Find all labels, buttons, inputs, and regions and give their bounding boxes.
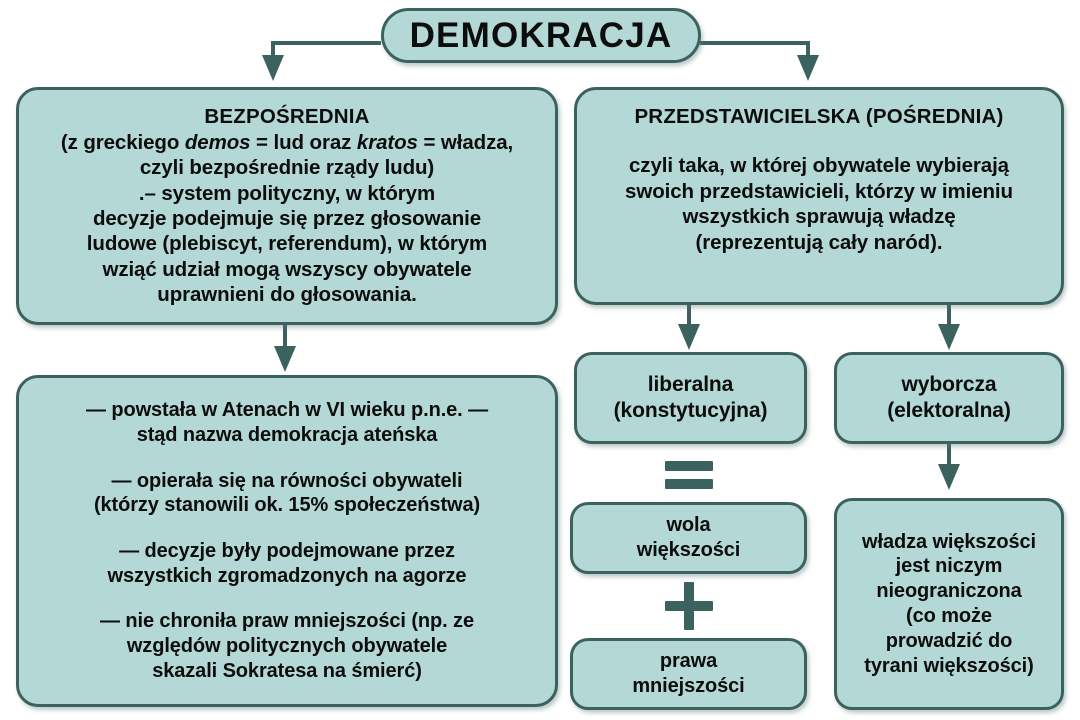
arrow-direct-to-details <box>274 346 296 372</box>
representative-spacer <box>587 129 1051 153</box>
electoral-line-1: wyborcza <box>837 372 1061 398</box>
direct-line-5: ludowe (plebiscyt, referendum), w którym <box>29 231 545 256</box>
detail-bullet-1-line-2: stąd nazwa demokracja ateńska <box>33 423 541 448</box>
direct-line-7: uprawnieni do głosowania. <box>29 282 545 307</box>
detail-bullet-4-line-2: względów politycznych obywatele <box>33 634 541 659</box>
detail-bullet-1-line-1: — powstała w Atenach w VI wieku p.n.e. — <box>33 398 541 423</box>
majority-power-line-1: władza większości <box>837 530 1061 555</box>
direct-line-1-kratos: kratos <box>357 131 418 154</box>
node-electoral[interactable]: wyborcza (elektoralna) <box>834 352 1064 444</box>
majority-power-line-4: (co może <box>837 604 1061 629</box>
arrow-title-to-direct <box>262 55 284 81</box>
connector-representative-to-liberal-vertical <box>687 304 691 326</box>
representative-line-4: (reprezentują cały naród). <box>587 230 1051 255</box>
representative-line-3: wszystkich sprawują władzę <box>587 204 1051 229</box>
node-direct-democracy-details[interactable]: — powstała w Atenach w VI wieku p.n.e. —… <box>16 375 558 707</box>
minority-rights-line-1: prawa <box>573 649 804 674</box>
connector-title-to-direct-horizontal <box>271 41 381 45</box>
majority-power-line-3: nieograniczona <box>837 579 1061 604</box>
minority-rights-line-2: mniejszości <box>573 674 804 699</box>
direct-line-1-part-e: = władza, <box>418 131 513 154</box>
diagram-title-text: DEMOKRACJA <box>384 14 698 57</box>
detail-bullet-2-line-2: (którzy stanowili ok. 15% społeczeństwa) <box>33 493 541 518</box>
node-direct-democracy[interactable]: BEZPOŚREDNIA (z greckiego demos = lud or… <box>16 87 558 325</box>
connector-electoral-to-majority-power-vertical <box>947 444 951 466</box>
liberal-line-1: liberalna <box>577 372 804 398</box>
connector-title-to-representative-horizontal <box>700 41 810 45</box>
direct-line-6: wziąć udział mogą wszyscy obywatele <box>29 257 545 282</box>
will-of-majority-line-2: większości <box>573 538 804 563</box>
connector-representative-to-electoral-vertical <box>947 304 951 326</box>
detail-bullet-3: — decyzje były podejmowane przez wszystk… <box>33 539 541 589</box>
representative-line-1: czyli taka, w której obywatele wybierają <box>587 153 1051 178</box>
detail-bullet-4-line-1: — nie chroniła praw mniejszości (np. ze <box>33 609 541 634</box>
liberal-line-2: (konstytucyjna) <box>577 398 804 424</box>
direct-line-1-part-a: (z greckiego <box>61 131 185 154</box>
node-will-of-majority[interactable]: wola większości <box>570 502 807 574</box>
direct-heading: BEZPOŚREDNIA <box>29 104 545 129</box>
connector-direct-to-details-vertical <box>283 324 287 348</box>
direct-line-1-demos: demos <box>185 131 251 154</box>
direct-line-1: (z greckiego demos = lud oraz kratos = w… <box>29 130 545 155</box>
majority-power-line-5: prowadzić do <box>837 629 1061 654</box>
direct-line-2: czyli bezpośrednie rządy ludu) <box>29 155 545 180</box>
majority-power-line-6: tyrani większości) <box>837 654 1061 679</box>
direct-line-4: decyzje podejmuje się przez głosowanie <box>29 206 545 231</box>
detail-bullet-3-line-1: — decyzje były podejmowane przez <box>33 539 541 564</box>
detail-bullet-1: — powstała w Atenach w VI wieku p.n.e. —… <box>33 398 541 448</box>
representative-line-2: swoich przedstawicieli, którzy w imieniu <box>587 179 1051 204</box>
majority-power-line-2: jest niczym <box>837 554 1061 579</box>
direct-line-3: .– system polityczny, w którym <box>29 181 545 206</box>
node-majority-power[interactable]: władza większości jest niczym nieogranic… <box>834 498 1064 710</box>
detail-bullet-3-line-2: wszystkich zgromadzonych na agorze <box>33 564 541 589</box>
representative-heading: PRZEDSTAWICIELSKA (POŚREDNIA) <box>587 104 1051 129</box>
diagram-title-node[interactable]: DEMOKRACJA <box>381 8 701 63</box>
detail-bullet-2-line-1: — opierała się na równości obywateli <box>33 469 541 494</box>
arrow-electoral-to-majority-power <box>938 464 960 490</box>
node-minority-rights[interactable]: prawa mniejszości <box>570 638 807 710</box>
direct-line-1-part-c: = lud oraz <box>250 131 356 154</box>
arrow-representative-to-liberal <box>678 324 700 350</box>
detail-bullet-2: — opierała się na równości obywateli (kt… <box>33 469 541 519</box>
detail-bullet-4-line-3: skazali Sokratesa na śmierć) <box>33 659 541 684</box>
node-representative-democracy[interactable]: PRZEDSTAWICIELSKA (POŚREDNIA) czyli taka… <box>574 87 1064 305</box>
arrow-representative-to-electoral <box>938 324 960 350</box>
node-liberal[interactable]: liberalna (konstytucyjna) <box>574 352 807 444</box>
electoral-line-2: (elektoralna) <box>837 398 1061 424</box>
diagram-canvas: DEMOKRACJA BEZPOŚREDNIA (z greckiego dem… <box>0 0 1080 720</box>
arrow-title-to-representative <box>797 55 819 81</box>
detail-bullet-4: — nie chroniła praw mniejszości (np. ze … <box>33 609 541 683</box>
will-of-majority-line-1: wola <box>573 513 804 538</box>
